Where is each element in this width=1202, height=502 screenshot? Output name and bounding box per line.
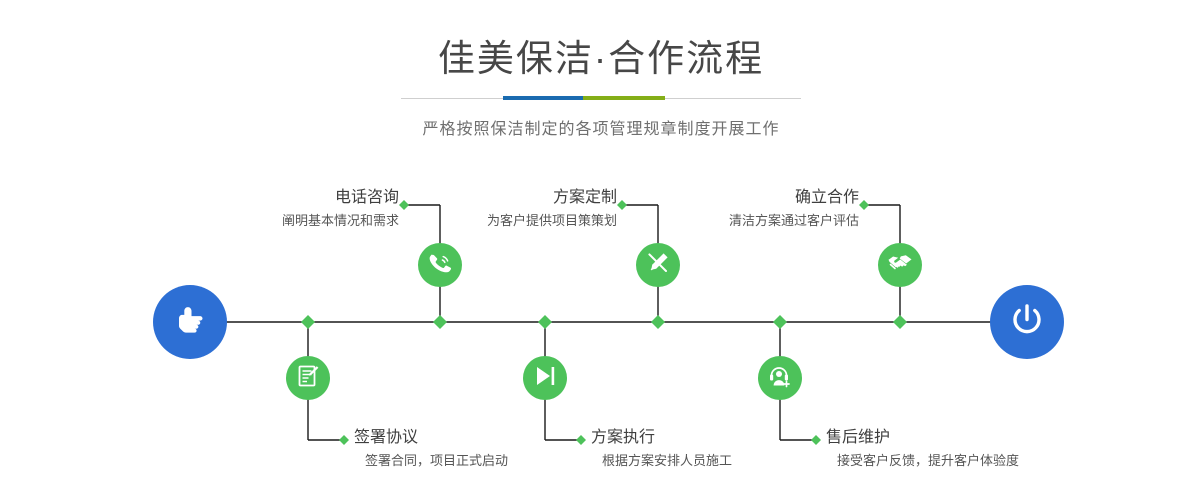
timeline-diamond-1: [301, 315, 315, 329]
flow-label-title: 方案执行: [591, 428, 851, 448]
flow-label-step-3: 方案定制 为客户提供项目策策划: [372, 188, 617, 230]
flow-label-desc: 为客户提供项目策策划: [372, 208, 617, 230]
flow-node-sign-agreement[interactable]: [286, 356, 330, 400]
flow-label-step-1: 电话咨询 阐明基本情况和需求: [154, 188, 399, 230]
flow-start-node[interactable]: [153, 285, 227, 359]
flow-node-plan-design[interactable]: [636, 243, 680, 287]
flow-label-title: 签署协议: [354, 428, 614, 448]
phone-call-icon: [427, 250, 453, 281]
flow-label-desc: 阐明基本情况和需求: [154, 208, 399, 230]
label-diamond-step-5: [859, 200, 869, 210]
flow-connectors: [0, 0, 1202, 502]
flow-label-step-4: 方案执行 根据方案安排人员施工: [591, 428, 851, 470]
flow-node-phone-consult[interactable]: [418, 243, 462, 287]
flow-label-desc: 签署合同，项目正式启动: [354, 448, 614, 470]
timeline-diamond-6: [893, 315, 907, 329]
flow-node-plan-execute[interactable]: [523, 356, 567, 400]
flow-label-step-6: 售后维护 接受客户反馈，提升客户体验度: [826, 428, 1126, 470]
document-edit-icon: [295, 363, 321, 394]
flow-label-title: 售后维护: [826, 428, 1126, 448]
flow-label-desc: 清洁方案通过客户评估: [614, 208, 859, 230]
timeline-diamond-3: [538, 315, 552, 329]
flow-label-step-5: 确立合作 清洁方案通过客户评估: [614, 188, 859, 230]
timeline-diamond-4: [651, 315, 665, 329]
handshake-icon: [886, 249, 914, 282]
timeline-diamond-2: [433, 315, 447, 329]
flow-end-node[interactable]: [990, 285, 1064, 359]
label-diamond-step-2: [339, 435, 349, 445]
timeline-diamond-5: [773, 315, 787, 329]
flow-label-title: 确立合作: [614, 188, 859, 208]
flow-node-establish-cooperation[interactable]: [878, 243, 922, 287]
power-icon: [1006, 299, 1048, 346]
flow-label-desc: 接受客户反馈，提升客户体验度: [826, 448, 1126, 470]
flow-node-after-sales[interactable]: [758, 356, 802, 400]
pen-design-icon: [645, 250, 671, 281]
flow-label-title: 方案定制: [372, 188, 617, 208]
flow-label-step-2: 签署协议 签署合同，项目正式启动: [354, 428, 614, 470]
flow-label-desc: 根据方案安排人员施工: [591, 448, 851, 470]
process-flow-diagram: 电话咨询 阐明基本情况和需求 方案定制 为客户提供项目策策划 确立合作 清洁方案…: [0, 0, 1202, 502]
pointing-hand-icon: [170, 300, 210, 345]
flow-label-title: 电话咨询: [154, 188, 399, 208]
play-skip-icon: [532, 363, 558, 394]
support-agent-icon: [767, 363, 793, 394]
